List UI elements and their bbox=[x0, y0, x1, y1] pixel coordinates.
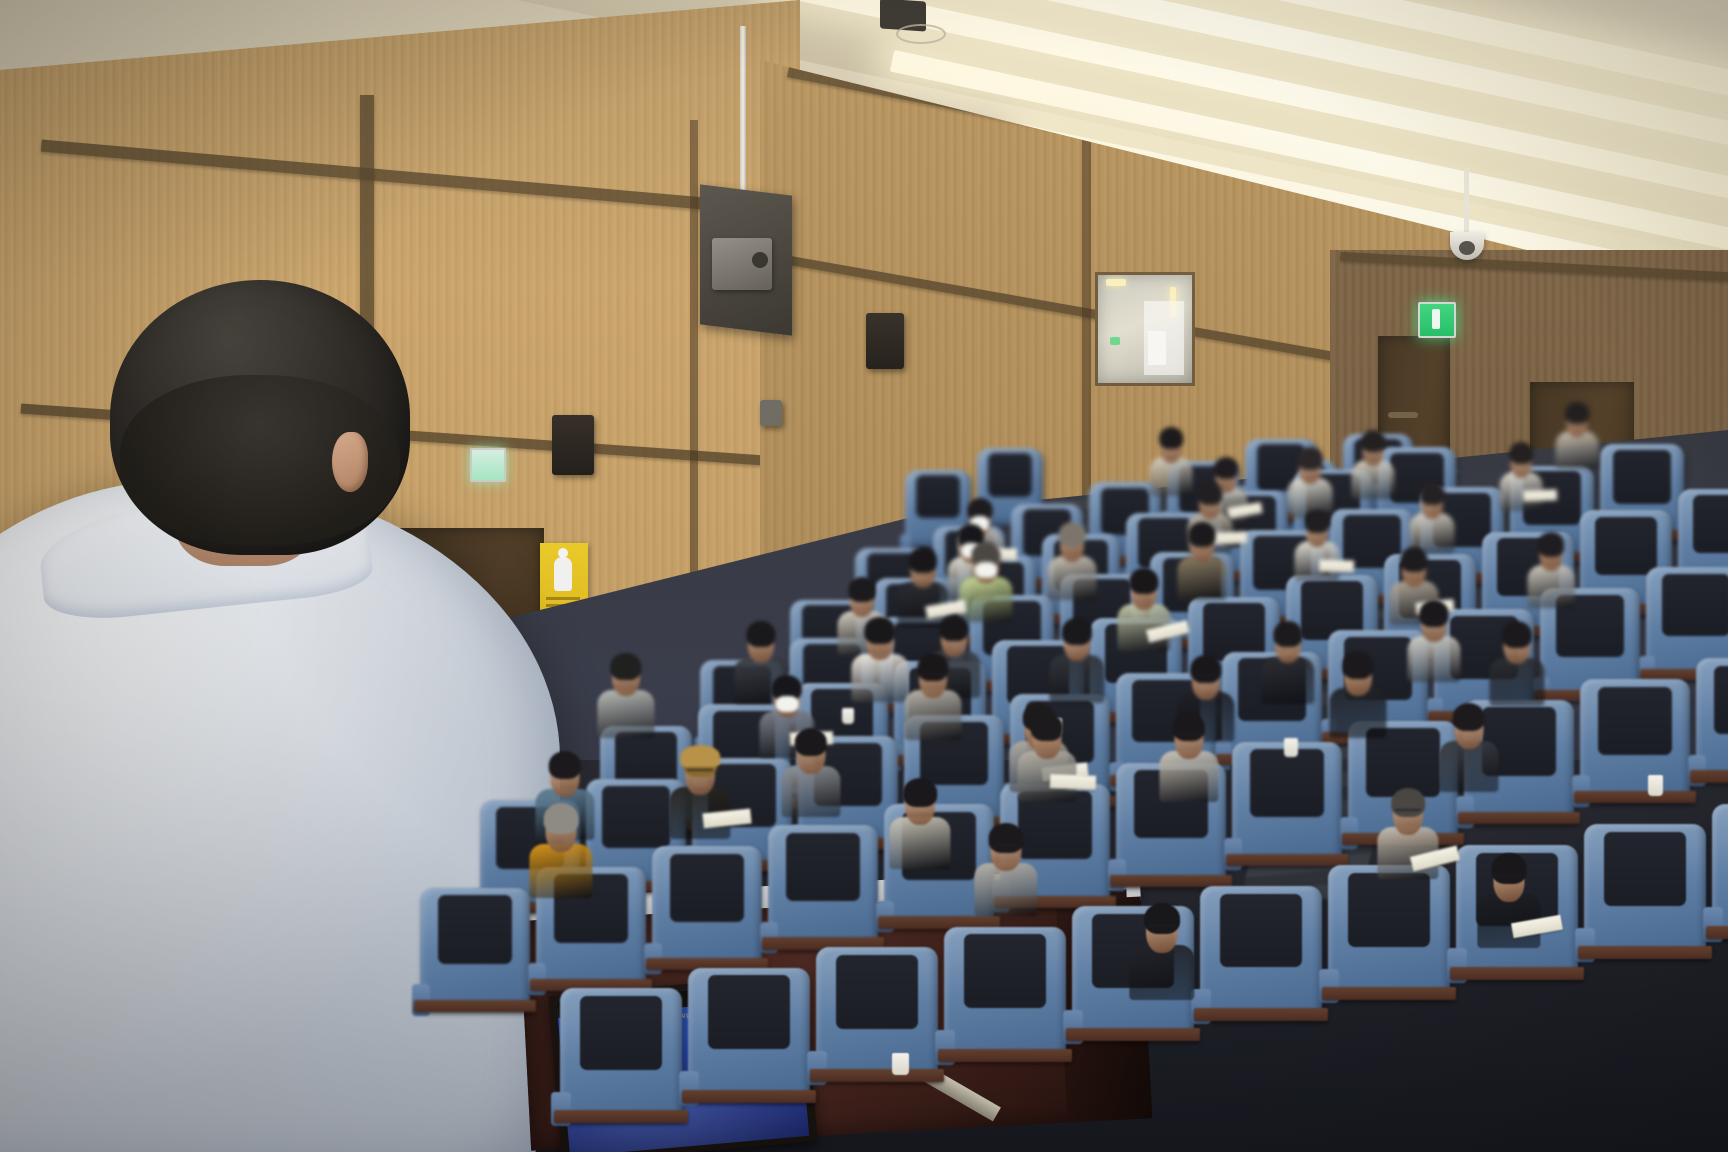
auditorium-seat bbox=[1200, 886, 1322, 1018]
seat-headrest bbox=[1662, 574, 1728, 637]
auditorium-seat bbox=[1328, 865, 1450, 997]
audience-member-torso bbox=[1049, 655, 1104, 703]
audience-member-hair bbox=[1190, 655, 1221, 683]
audience-member-hair bbox=[1419, 600, 1448, 626]
eyeglasses bbox=[1194, 675, 1219, 677]
audience-member bbox=[1352, 428, 1394, 498]
paper-cup bbox=[892, 1053, 909, 1075]
audience-member-hair bbox=[864, 617, 895, 645]
eyeglasses bbox=[687, 769, 713, 771]
audience-member-hair bbox=[903, 778, 937, 807]
seat-headrest bbox=[1693, 495, 1728, 553]
seat-headrest bbox=[670, 854, 745, 922]
audience-member bbox=[1330, 648, 1386, 736]
seat-headrest bbox=[1595, 517, 1658, 575]
audience-member-hair bbox=[909, 547, 937, 573]
audience-member bbox=[960, 540, 1012, 620]
audience-member-hair bbox=[1214, 457, 1238, 479]
auditorium-seat bbox=[1580, 679, 1690, 801]
wall-speaker-center bbox=[866, 313, 904, 369]
eyeglasses bbox=[921, 673, 946, 675]
audience-member-hair bbox=[1144, 903, 1180, 934]
seat-headrest bbox=[988, 453, 1033, 497]
ceiling-diffuser-ring bbox=[896, 24, 946, 44]
seat-headrest bbox=[1348, 873, 1431, 947]
audience-member-hair bbox=[1198, 482, 1223, 505]
auditorium-seat bbox=[1232, 742, 1342, 864]
audience-member-torso bbox=[597, 690, 654, 738]
audience-member-torso bbox=[1489, 658, 1544, 706]
audience-member-hair bbox=[544, 803, 579, 834]
auditorium-seat bbox=[1696, 658, 1728, 780]
audience-member-hair bbox=[1342, 651, 1373, 679]
seat-writing-desk bbox=[1458, 812, 1580, 824]
projection-booth-window bbox=[1095, 272, 1195, 386]
handout-paper bbox=[1523, 490, 1557, 502]
audience-member-hair bbox=[1401, 547, 1428, 572]
auditorium-seat bbox=[688, 968, 810, 1100]
audience-member-hair bbox=[1298, 447, 1323, 470]
audience-member-torso bbox=[889, 817, 950, 869]
audience-member-torso bbox=[1178, 556, 1227, 600]
seat-headrest bbox=[1220, 894, 1303, 968]
audience-member bbox=[1048, 520, 1096, 598]
seat-writing-desk bbox=[554, 1110, 688, 1123]
paper-cup bbox=[842, 708, 854, 724]
seat-writing-desk bbox=[1322, 987, 1456, 1000]
paper-cup bbox=[1648, 775, 1663, 796]
audience-member-hair bbox=[1273, 621, 1302, 648]
audience-member-torso bbox=[1439, 741, 1498, 791]
audience-member bbox=[1050, 615, 1104, 701]
seat-headrest bbox=[786, 833, 861, 901]
seat-writing-desk bbox=[1226, 854, 1348, 866]
seat-headrest bbox=[836, 955, 919, 1029]
audience-member-hair bbox=[1509, 442, 1533, 464]
audience-member-hair bbox=[1492, 853, 1527, 884]
seat-headrest bbox=[964, 934, 1047, 1008]
auditorium-seat bbox=[1712, 804, 1728, 936]
audience-member-torso bbox=[904, 690, 961, 739]
audience-member bbox=[852, 614, 908, 700]
audience-member-hair bbox=[1305, 510, 1330, 533]
seat-headrest bbox=[1250, 749, 1325, 817]
seat-writing-desk bbox=[1450, 967, 1584, 980]
audience-member-torso bbox=[1407, 636, 1460, 682]
presenter-ear bbox=[332, 432, 368, 492]
seat-writing-desk bbox=[1066, 1028, 1200, 1041]
audience-member-cap bbox=[680, 745, 720, 767]
auditorium-seat bbox=[420, 888, 530, 1010]
seat-writing-desk bbox=[938, 1049, 1072, 1062]
audience-member-torso bbox=[1329, 688, 1386, 737]
audience-member-hair bbox=[1173, 713, 1205, 742]
audience-member bbox=[1160, 710, 1218, 800]
eyeglasses bbox=[992, 844, 1019, 846]
audience-member-torso bbox=[1129, 945, 1194, 1000]
audience-member-torso bbox=[781, 766, 840, 816]
seat-headrest bbox=[438, 895, 513, 963]
audience-member-torso bbox=[1150, 457, 1193, 496]
audience-member-hair bbox=[1565, 402, 1589, 424]
audience-member-hair bbox=[1062, 618, 1092, 646]
audience-member-hair bbox=[939, 615, 968, 642]
ceiling-projector bbox=[712, 238, 772, 290]
audience-member-hair bbox=[1361, 430, 1385, 452]
audience-member-hair bbox=[1059, 522, 1086, 547]
audience-member-torso bbox=[1556, 431, 1599, 469]
lecture-hall-photo: 2025년도 응급의학과·내과 심포지엄 대증요법 연수강좌 숨찬 환자, bbox=[0, 0, 1728, 1152]
audience-member-hair bbox=[1391, 788, 1425, 817]
audience-member-torso bbox=[851, 654, 908, 702]
audience-member-hair bbox=[1129, 568, 1158, 595]
handout-paper bbox=[1050, 774, 1097, 790]
audience-member-hair bbox=[1031, 713, 1063, 742]
audience-member-hair bbox=[989, 823, 1024, 853]
audience-member-hair bbox=[1420, 482, 1445, 505]
exit-sign bbox=[1418, 302, 1456, 338]
audience-member-torso bbox=[1159, 751, 1218, 801]
audience-member bbox=[598, 650, 654, 736]
seat-headrest bbox=[1613, 450, 1670, 504]
handout-paper bbox=[1319, 559, 1355, 572]
presenter bbox=[0, 280, 580, 1152]
audience-member-torso bbox=[1528, 565, 1575, 608]
audience-member bbox=[1178, 520, 1226, 598]
audience-member-torso bbox=[974, 863, 1037, 916]
auditorium-seat bbox=[560, 988, 682, 1120]
audience-member bbox=[905, 650, 961, 738]
eyeglasses bbox=[1176, 733, 1202, 735]
audience-member bbox=[782, 725, 840, 815]
seat-writing-desk bbox=[682, 1090, 816, 1103]
seat-headrest bbox=[580, 996, 663, 1070]
audience-member bbox=[1528, 530, 1574, 606]
eyeglasses bbox=[1148, 925, 1176, 927]
audience-member bbox=[1288, 445, 1332, 517]
seat-headrest bbox=[1714, 666, 1728, 734]
audience-member bbox=[1556, 400, 1598, 468]
audience-member-torso bbox=[529, 844, 592, 898]
eyeglasses bbox=[1495, 875, 1522, 877]
face-mask bbox=[975, 562, 997, 578]
seat-writing-desk bbox=[414, 1000, 536, 1012]
audience-member-torso bbox=[1352, 460, 1395, 499]
audience-member bbox=[1410, 480, 1454, 552]
wall-fixture-small bbox=[760, 400, 782, 426]
audience-member-hair bbox=[917, 653, 948, 681]
audience-member bbox=[1408, 598, 1460, 680]
audience-member bbox=[1262, 618, 1314, 702]
face-mask bbox=[776, 696, 799, 713]
audience-member bbox=[530, 800, 592, 896]
seat-headrest bbox=[916, 475, 961, 519]
auditorium-seat bbox=[1584, 824, 1706, 956]
auditorium-seat bbox=[816, 947, 938, 1079]
audience-member-hair bbox=[795, 728, 827, 757]
seat-writing-desk bbox=[1578, 946, 1712, 959]
seat-writing-desk bbox=[1706, 926, 1728, 939]
seat-writing-desk bbox=[810, 1069, 944, 1082]
audience-member bbox=[1440, 700, 1498, 790]
seat-writing-desk bbox=[1194, 1008, 1328, 1021]
seat-writing-desk bbox=[1690, 770, 1728, 782]
seat-headrest bbox=[1598, 687, 1673, 755]
seat-writing-desk bbox=[1574, 791, 1696, 803]
eyeglasses bbox=[1395, 809, 1421, 811]
seat-headrest bbox=[1604, 832, 1687, 906]
presenter-hair bbox=[110, 280, 410, 555]
audience-member bbox=[1150, 425, 1192, 495]
audience-member bbox=[1490, 618, 1544, 704]
paper-cup bbox=[1284, 738, 1298, 757]
audience-member-hair bbox=[1159, 427, 1183, 449]
audience-member-hair bbox=[1189, 522, 1216, 547]
audience-member-torso bbox=[1261, 657, 1314, 704]
audience-member bbox=[890, 775, 950, 867]
audience-member-hair bbox=[610, 653, 641, 681]
auditorium-seat bbox=[652, 846, 762, 968]
audience-member-hair bbox=[746, 621, 775, 648]
eyeglasses bbox=[1423, 619, 1446, 621]
auditorium-seat bbox=[768, 825, 878, 947]
audience-member-torso bbox=[1048, 556, 1097, 600]
audience-member-hair bbox=[1538, 532, 1564, 556]
audience-member-hair bbox=[549, 751, 581, 780]
seat-headrest bbox=[602, 786, 670, 849]
audience-member-hair bbox=[1502, 621, 1532, 649]
audience-member bbox=[975, 820, 1037, 914]
auditorium-seat bbox=[944, 927, 1066, 1059]
audience-member-hair bbox=[1453, 703, 1485, 732]
audience-member bbox=[1130, 900, 1194, 998]
audience-member-hair bbox=[849, 577, 876, 602]
seat-headrest bbox=[708, 975, 791, 1049]
camera-drop-pole bbox=[1464, 168, 1469, 236]
